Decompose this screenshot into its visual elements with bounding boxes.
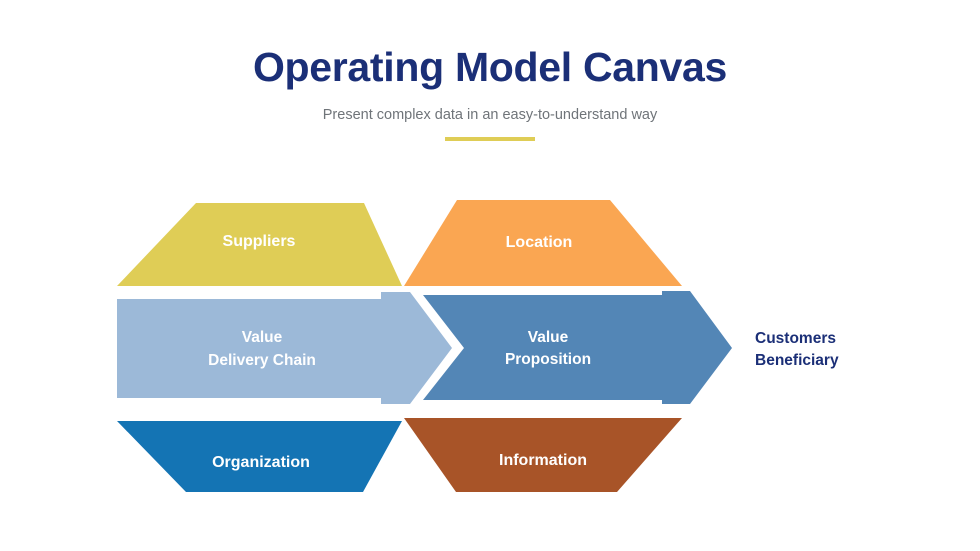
customers-line1: Customers [755, 328, 955, 350]
value-proposition-shape[interactable] [423, 291, 732, 404]
block-value-proposition[interactable]: Value Proposition [423, 291, 732, 404]
block-information[interactable]: Information [404, 418, 682, 492]
customers-beneficiary-label: Customers Beneficiary [755, 328, 955, 372]
slide-canvas: Operating Model Canvas Present complex d… [0, 0, 980, 551]
location-label: Location [506, 234, 573, 251]
value-delivery-chain-label-line2: Delivery Chain [208, 352, 316, 369]
value-proposition-label-line2: Proposition [505, 351, 591, 368]
block-organization[interactable]: Organization [117, 421, 402, 492]
value-delivery-chain-shape[interactable] [117, 292, 452, 404]
suppliers-label: Suppliers [223, 233, 296, 250]
block-location[interactable]: Location [404, 200, 682, 286]
organization-label: Organization [212, 454, 310, 471]
operating-model-diagram: Suppliers Location Value Proposition Val… [0, 0, 980, 551]
customers-line2: Beneficiary [755, 350, 955, 372]
block-value-delivery-chain[interactable]: Value Delivery Chain [117, 292, 452, 404]
block-suppliers[interactable]: Suppliers [117, 203, 402, 286]
value-delivery-chain-label-line1: Value [242, 329, 283, 346]
information-label: Information [499, 452, 587, 469]
value-proposition-label-line1: Value [528, 329, 569, 346]
